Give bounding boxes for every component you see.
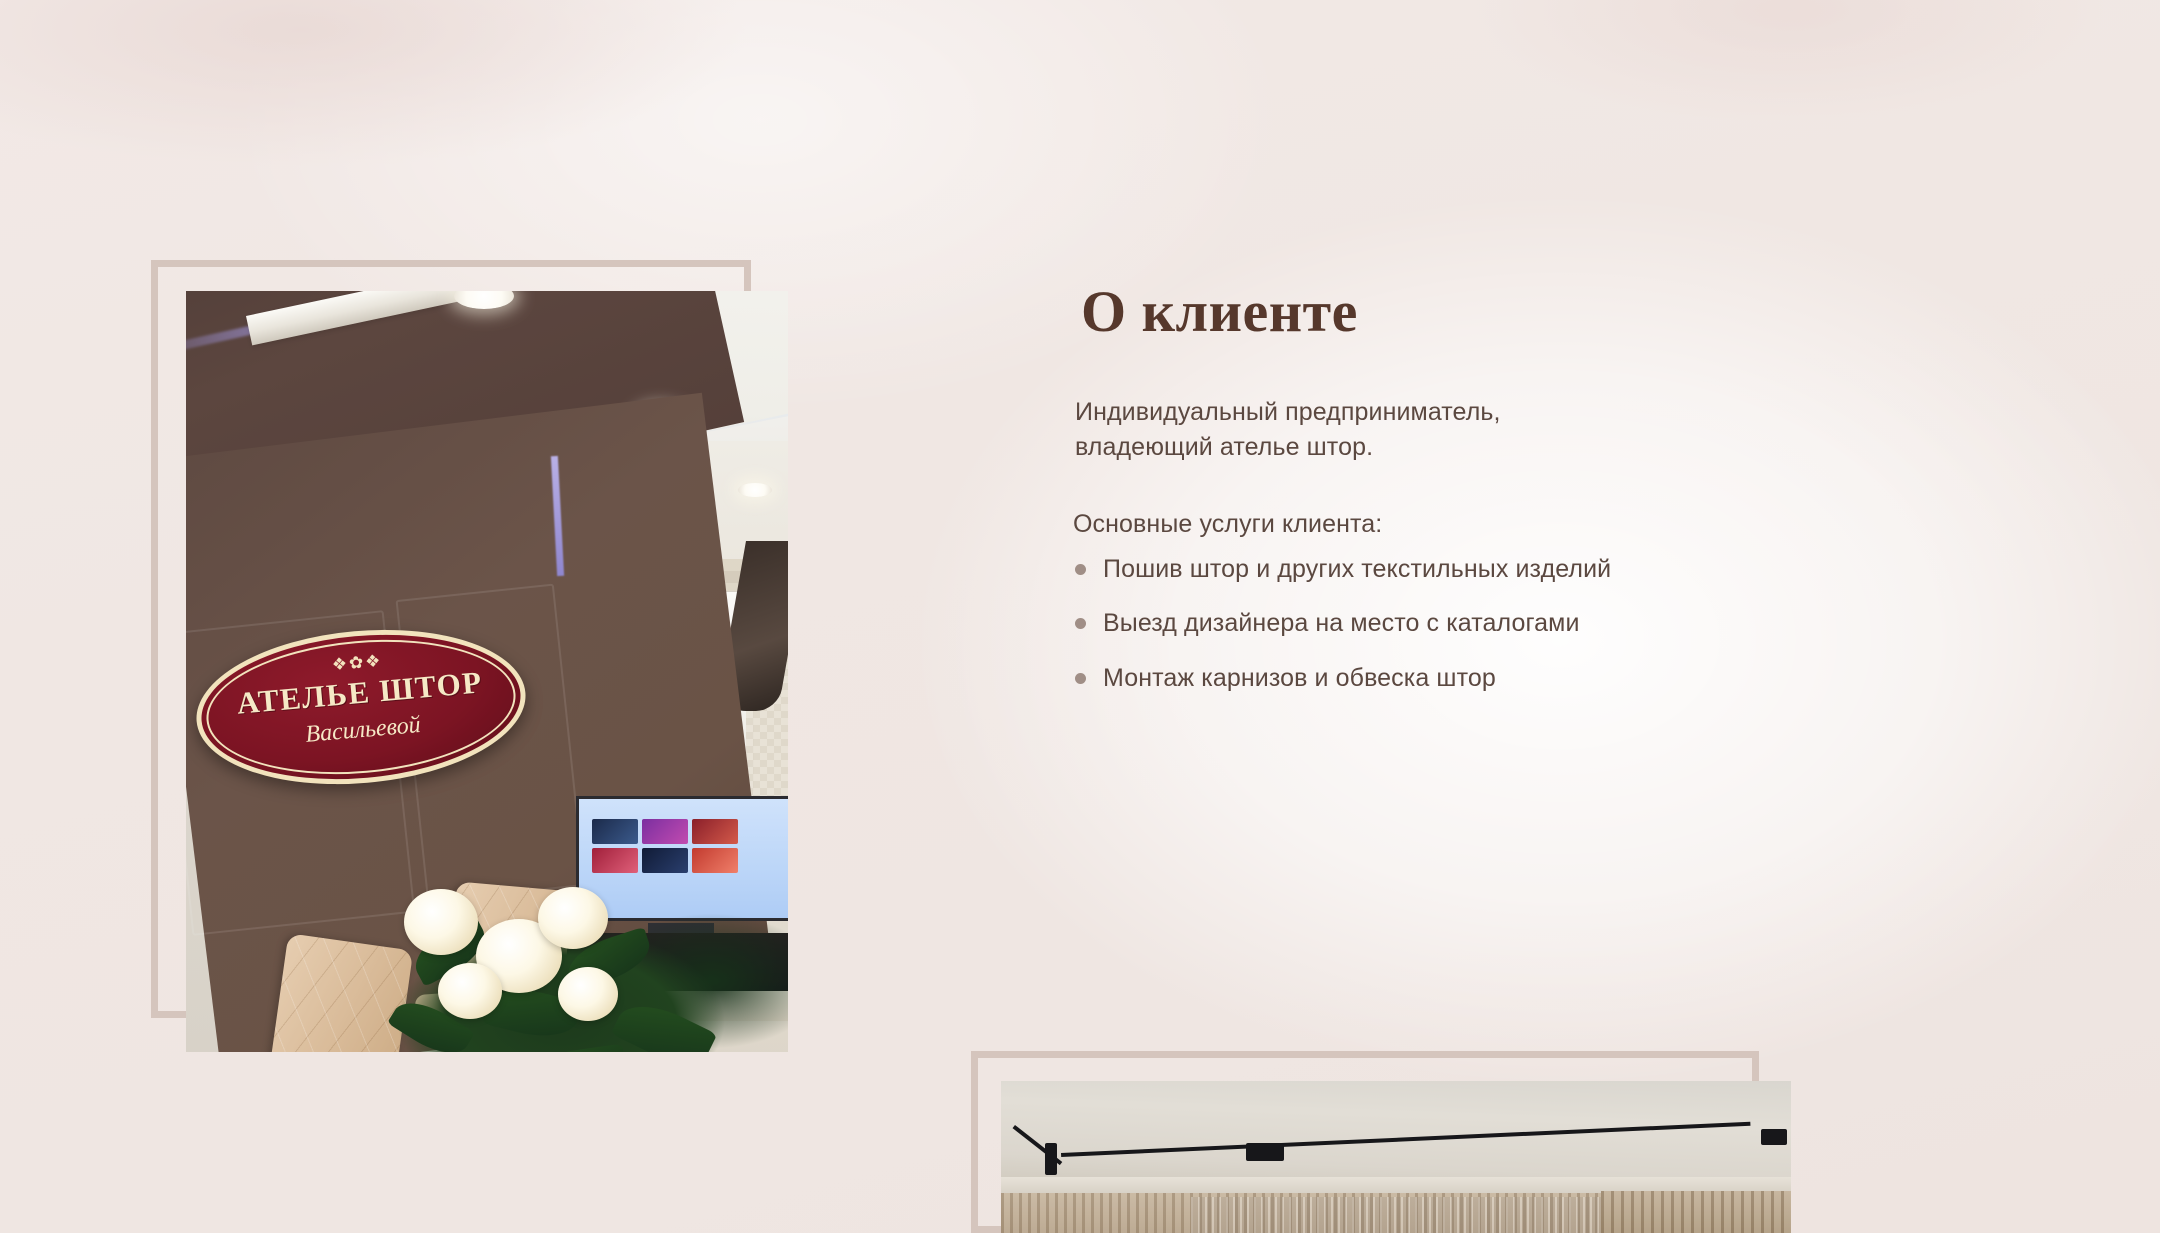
photo2-track-spotlight: [1761, 1129, 1787, 1145]
list-item: Выезд дизайнера на место с каталогами: [1075, 607, 1835, 640]
list-item: Монтаж карнизов и обвеска штор: [1075, 662, 1835, 695]
photo2-track-spotlight: [1246, 1143, 1284, 1161]
photo-rose: [438, 963, 502, 1019]
background-wash-right: [1460, 0, 2160, 200]
lead-paragraph: Индивидуальный предприниматель, владеющи…: [1075, 395, 1835, 466]
text-content-block: О клиенте Индивидуальный предприниматель…: [1075, 282, 1835, 716]
photo-rose: [558, 967, 618, 1021]
atelier-signboard: ❖✿❖ АТЕЛЬЕ ШТОР Васильевой: [190, 617, 532, 797]
list-item: Пошив штор и других текстильных изделий: [1075, 553, 1835, 586]
photo2-track-spotlight: [1045, 1143, 1057, 1175]
list-item-label: Пошив штор и других текстильных изделий: [1103, 553, 1611, 586]
background-wash-left: [0, 0, 1100, 240]
bottom-photo: [1001, 1081, 1791, 1233]
photo2-sheer-curtain: [1191, 1197, 1601, 1233]
bullet-dot-icon: [1075, 564, 1086, 575]
bullet-dot-icon: [1075, 673, 1086, 684]
photo-rose: [404, 889, 478, 955]
left-photo: ❖✿❖ АТЕЛЬЕ ШТОР Васильевой: [186, 291, 788, 1052]
photo2-curtain-side: [1601, 1191, 1791, 1233]
photo-recessed-light: [738, 483, 772, 497]
list-item-label: Монтаж карнизов и обвеска штор: [1103, 662, 1496, 695]
services-list: Пошив штор и других текстильных изделий …: [1075, 553, 1835, 695]
photo-rose: [538, 887, 608, 949]
photo-monitor-thumbnails: [592, 819, 742, 875]
list-item-label: Выезд дизайнера на место с каталогами: [1103, 607, 1580, 640]
slide-root: ❖✿❖ АТЕЛЬЕ ШТОР Васильевой: [0, 0, 2160, 1233]
bullet-dot-icon: [1075, 618, 1086, 629]
photo2-ceiling: [1001, 1081, 1791, 1187]
services-subhead: Основные услуги клиента:: [1073, 510, 1835, 539]
page-title: О клиенте: [1081, 282, 1835, 343]
